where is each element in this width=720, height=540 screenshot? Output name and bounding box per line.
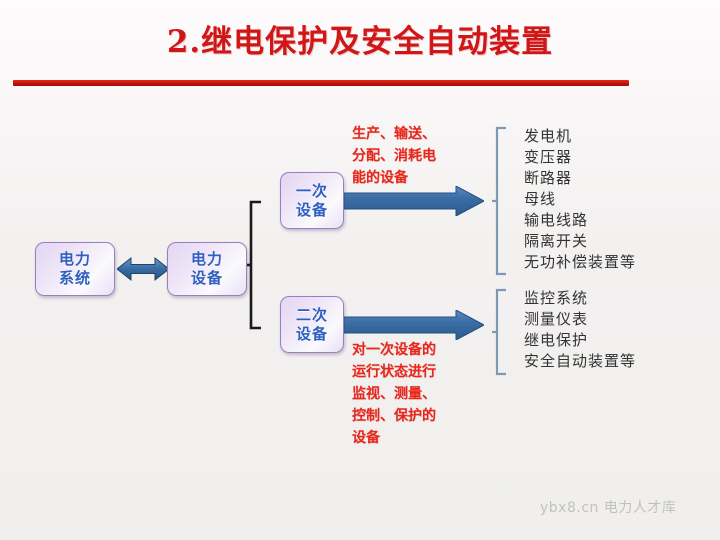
annotation-primary-equipment: 生产、输送、 分配、消耗电 能的设备 <box>352 123 492 189</box>
list-item: 母线 <box>524 189 636 210</box>
node-power-system-label: 电力 系统 <box>59 250 91 288</box>
title-underline-rule <box>13 80 629 86</box>
title-area: 2.继电保护及安全自动装置 <box>0 22 720 62</box>
node-primary-equipment-label: 一次 设备 <box>296 182 328 220</box>
list-item: 变压器 <box>524 147 636 168</box>
node-secondary-equipment[interactable]: 二次 设备 <box>280 296 344 353</box>
list-bracket-secondary <box>492 288 508 376</box>
double-headed-arrow-icon <box>117 254 169 284</box>
list-item: 测量仪表 <box>524 309 636 330</box>
list-item: 无功补偿装置等 <box>524 252 636 273</box>
list-item: 隔离开关 <box>524 231 636 252</box>
node-secondary-equipment-label: 二次 设备 <box>296 306 328 344</box>
page-title: 2.继电保护及安全自动装置 <box>0 22 720 62</box>
slide-canvas: 2.继电保护及安全自动装置 电力 系统 电力 设备 一次 <box>0 0 720 540</box>
annotation-secondary-equipment: 对一次设备的 运行状态进行 监视、测量、 控制、保护的 设备 <box>352 339 497 449</box>
left-split-bracket <box>247 200 265 330</box>
node-power-system[interactable]: 电力 系统 <box>35 242 115 296</box>
list-item: 输电线路 <box>524 210 636 231</box>
node-primary-equipment[interactable]: 一次 设备 <box>280 172 344 229</box>
block-arrow-primary-icon <box>344 186 484 216</box>
list-item: 监控系统 <box>524 288 636 309</box>
block-arrow-secondary-icon <box>344 310 484 340</box>
node-power-equipment-label: 电力 设备 <box>191 250 223 288</box>
list-item: 安全自动装置等 <box>524 351 636 372</box>
node-power-equipment[interactable]: 电力 设备 <box>167 242 247 296</box>
list-secondary-equipment: 监控系统 测量仪表 继电保护 安全自动装置等 <box>524 288 636 372</box>
list-bracket-primary <box>492 126 508 276</box>
list-primary-equipment: 发电机 变压器 断路器 母线 输电线路 隔离开关 无功补偿装置等 <box>524 126 636 273</box>
list-item: 继电保护 <box>524 330 636 351</box>
list-item: 发电机 <box>524 126 636 147</box>
watermark: ybx8.cn 电力人才库 <box>540 497 676 517</box>
list-item: 断路器 <box>524 168 636 189</box>
